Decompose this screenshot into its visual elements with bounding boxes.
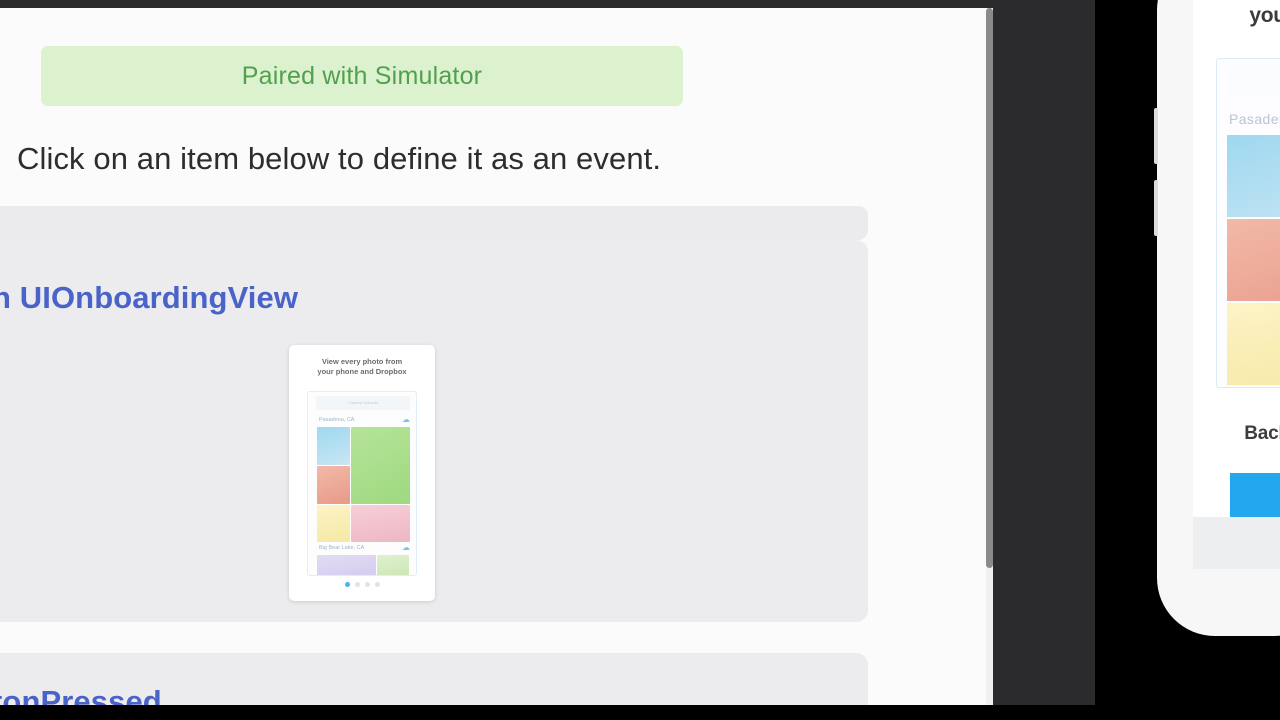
mockup-location-2: Big Bear Lake, CA	[316, 542, 410, 554]
mockup-photo-grid	[317, 427, 409, 540]
scrollbar-thumb[interactable]	[986, 8, 993, 568]
photo-tile	[351, 427, 410, 504]
volume-up-button[interactable]	[1154, 108, 1158, 164]
device-location-label: Pasader	[1229, 111, 1280, 127]
screenshot-root: Paired with Simulator Click on an item b…	[0, 0, 1280, 720]
physical-phone-device: Autom your p Pasader B	[1157, 0, 1280, 636]
photo-tile	[317, 466, 350, 504]
device-headline: Autom your p	[1193, 0, 1280, 31]
window-top-chrome	[0, 0, 992, 8]
mockup-inner-screen: Camera Uploads Pasadena, CA ☁ Big Bear L…	[307, 391, 417, 576]
mockup-headline: View every photo from your phone and Dro…	[289, 357, 435, 377]
page-indicator-dots	[289, 582, 435, 587]
event-card-strip[interactable]	[0, 206, 868, 240]
photo-tile	[1227, 219, 1280, 301]
status-banner: Paired with Simulator	[41, 46, 683, 106]
photo-tile	[377, 555, 409, 576]
cloud-upload-icon: ☁	[401, 414, 410, 426]
mockup-navbar-label: Camera Uploads	[316, 396, 410, 410]
status-badge: Paired with Simulator	[242, 62, 482, 91]
device-photo-grid	[1227, 135, 1280, 385]
photo-tile	[317, 555, 376, 576]
device-photo-card: Pasader	[1216, 58, 1280, 388]
mockup-location-1: Pasadena, CA	[316, 414, 410, 426]
page-dot[interactable]	[375, 582, 380, 587]
photo-tile	[317, 505, 350, 542]
device-navbar	[1227, 65, 1280, 99]
window-bottom-chrome	[0, 705, 1160, 720]
volume-down-button[interactable]	[1154, 180, 1158, 236]
event-card-title: n UIOnboardingView	[0, 280, 298, 316]
mockup-headline-line1: View every photo from	[289, 357, 435, 367]
mockup-photo-grid-secondary	[317, 555, 409, 576]
device-screen: Autom your p Pasader B	[1193, 0, 1280, 569]
background-dark-panel	[990, 0, 1098, 720]
device-footnote: Back up	[1193, 423, 1280, 445]
photo-tile	[1227, 135, 1280, 217]
page-dot-active[interactable]	[345, 582, 350, 587]
photo-tile	[317, 427, 350, 465]
background-black-gap	[1095, 0, 1157, 720]
device-headline-line2: your p	[1193, 1, 1280, 31]
event-card-title-secondary: tonPressed	[0, 684, 162, 705]
device-screen-footer	[1193, 517, 1280, 569]
page-dot[interactable]	[365, 582, 370, 587]
photo-tile	[1227, 303, 1280, 385]
cloud-upload-icon: ☁	[401, 542, 410, 554]
photo-tile	[351, 505, 410, 542]
device-cta-button[interactable]: Take	[1230, 473, 1280, 517]
instruction-text: Click on an item below to define it as a…	[17, 141, 661, 177]
onboarding-screenshot-thumbnail[interactable]: View every photo from your phone and Dro…	[289, 345, 435, 601]
app-content-pane: Paired with Simulator Click on an item b…	[0, 8, 986, 705]
mockup-headline-line2: your phone and Dropbox	[289, 367, 435, 377]
page-dot[interactable]	[355, 582, 360, 587]
